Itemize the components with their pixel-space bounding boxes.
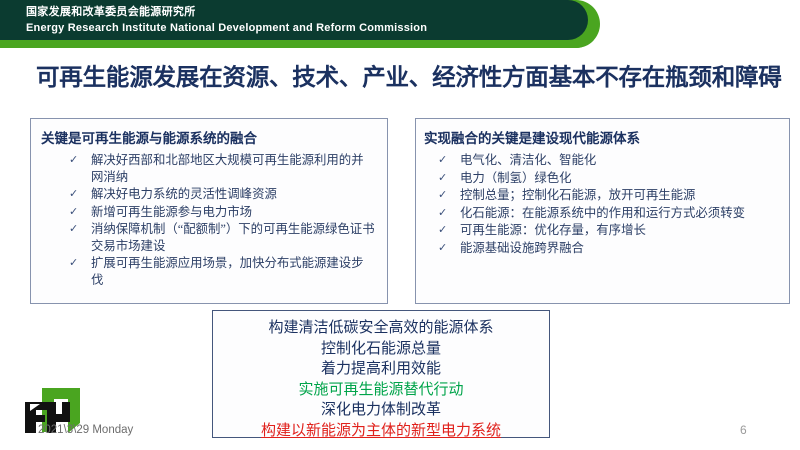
check-icon: ✓	[69, 221, 78, 238]
list-item-text: 电力（制氢）绿色化	[460, 171, 572, 185]
list-item: ✓ 解决好电力系统的灵活性调峰资源	[91, 186, 375, 203]
footer-date: 2021\3\29 Monday	[38, 424, 133, 436]
slide-canvas: 国家发展和改革委员会能源研究所 Energy Research Institut…	[0, 0, 800, 450]
list-item: ✓ 控制总量；控制化石能源，放开可再生能源	[460, 187, 779, 204]
page-number: 6	[740, 423, 747, 437]
panel-right-bullet-list: ✓ 电气化、清洁化、智能化 ✓ 电力（制氢）绿色化 ✓ 控制总量；控制化石能源，…	[460, 152, 779, 256]
panel-right-modern-energy-system: 实现融合的关键是建设现代能源体系 ✓ 电气化、清洁化、智能化 ✓ 电力（制氢）绿…	[415, 118, 790, 304]
panel-bottom-line-group: 构建清洁低碳安全高效的能源体系 控制化石能源总量 着力提高利用效能 实施可再生能…	[213, 318, 549, 441]
strategy-line: 深化电力体制改革	[213, 400, 549, 421]
panel-left-key-integration: 关键是可再生能源与能源系统的融合 ✓ 解决好西部和北部地区大规模可再生能源利用的…	[30, 118, 388, 304]
list-item-text: 化石能源：在能源系统中的作用和运行方式必须转变	[460, 206, 745, 220]
panel-bottom-energy-strategy: 构建清洁低碳安全高效的能源体系 控制化石能源总量 着力提高利用效能 实施可再生能…	[212, 310, 550, 438]
strategy-line: 控制化石能源总量	[213, 339, 549, 360]
check-icon: ✓	[69, 255, 78, 272]
check-icon: ✓	[438, 170, 447, 187]
header-org-name-cn: 国家发展和改革委员会能源研究所	[26, 5, 427, 20]
list-item-text: 新增可再生能源参与电力市场	[91, 205, 252, 219]
header-accent-underline	[0, 40, 600, 48]
check-icon: ✓	[69, 186, 78, 203]
strategy-line-highlight-red: 构建以新能源为主体的新型电力系统	[213, 421, 549, 442]
list-item: ✓ 化石能源：在能源系统中的作用和运行方式必须转变	[460, 205, 779, 222]
check-icon: ✓	[438, 240, 447, 257]
list-item: ✓ 电力（制氢）绿色化	[460, 170, 779, 187]
header-text-group: 国家发展和改革委员会能源研究所 Energy Research Institut…	[26, 5, 427, 36]
check-icon: ✓	[69, 152, 78, 169]
strategy-line: 着力提高利用效能	[213, 359, 549, 380]
list-item-text: 能源基础设施跨界融合	[460, 241, 584, 255]
header-org-name-en: Energy Research Institute National Devel…	[26, 20, 427, 36]
panel-left-heading: 关键是可再生能源与能源系统的融合	[41, 127, 387, 147]
check-icon: ✓	[438, 205, 447, 222]
list-item: ✓ 电气化、清洁化、智能化	[460, 152, 779, 169]
list-item: ✓ 能源基础设施跨界融合	[460, 240, 779, 257]
check-icon: ✓	[438, 222, 447, 239]
slide-title: 可再生能源发展在资源、技术、产业、经济性方面基本不存在瓶颈和障碍	[36, 62, 788, 92]
strategy-line-highlight-green: 实施可再生能源替代行动	[213, 380, 549, 401]
list-item-text: 解决好西部和北部地区大规模可再生能源利用的并网消纳	[91, 153, 364, 184]
list-item-text: 解决好电力系统的灵活性调峰资源	[91, 187, 277, 201]
list-item: ✓ 扩展可再生能源应用场景，加快分布式能源建设步伐	[91, 255, 375, 288]
panel-right-heading: 实现融合的关键是建设现代能源体系	[424, 127, 789, 147]
check-icon: ✓	[438, 187, 447, 204]
panel-left-bullet-list: ✓ 解决好西部和北部地区大规模可再生能源利用的并网消纳 ✓ 解决好电力系统的灵活…	[91, 152, 375, 288]
list-item-text: 可再生能源：优化存量，有序增长	[460, 223, 646, 237]
list-item: ✓ 可再生能源：优化存量，有序增长	[460, 222, 779, 239]
check-icon: ✓	[438, 152, 447, 169]
list-item-text: 控制总量；控制化石能源，放开可再生能源	[460, 188, 695, 202]
list-item-text: 电气化、清洁化、智能化	[460, 153, 596, 167]
check-icon: ✓	[69, 204, 78, 221]
list-item-text: 消纳保障机制（“配额制”）下的可再生能源绿色证书交易市场建设	[91, 222, 375, 253]
list-item: ✓ 消纳保障机制（“配额制”）下的可再生能源绿色证书交易市场建设	[91, 221, 375, 254]
header-band: 国家发展和改革委员会能源研究所 Energy Research Institut…	[0, 0, 600, 48]
list-item: ✓ 解决好西部和北部地区大规模可再生能源利用的并网消纳	[91, 152, 375, 185]
strategy-line: 构建清洁低碳安全高效的能源体系	[213, 318, 549, 339]
list-item-text: 扩展可再生能源应用场景，加快分布式能源建设步伐	[91, 256, 364, 287]
list-item: ✓ 新增可再生能源参与电力市场	[91, 204, 375, 221]
